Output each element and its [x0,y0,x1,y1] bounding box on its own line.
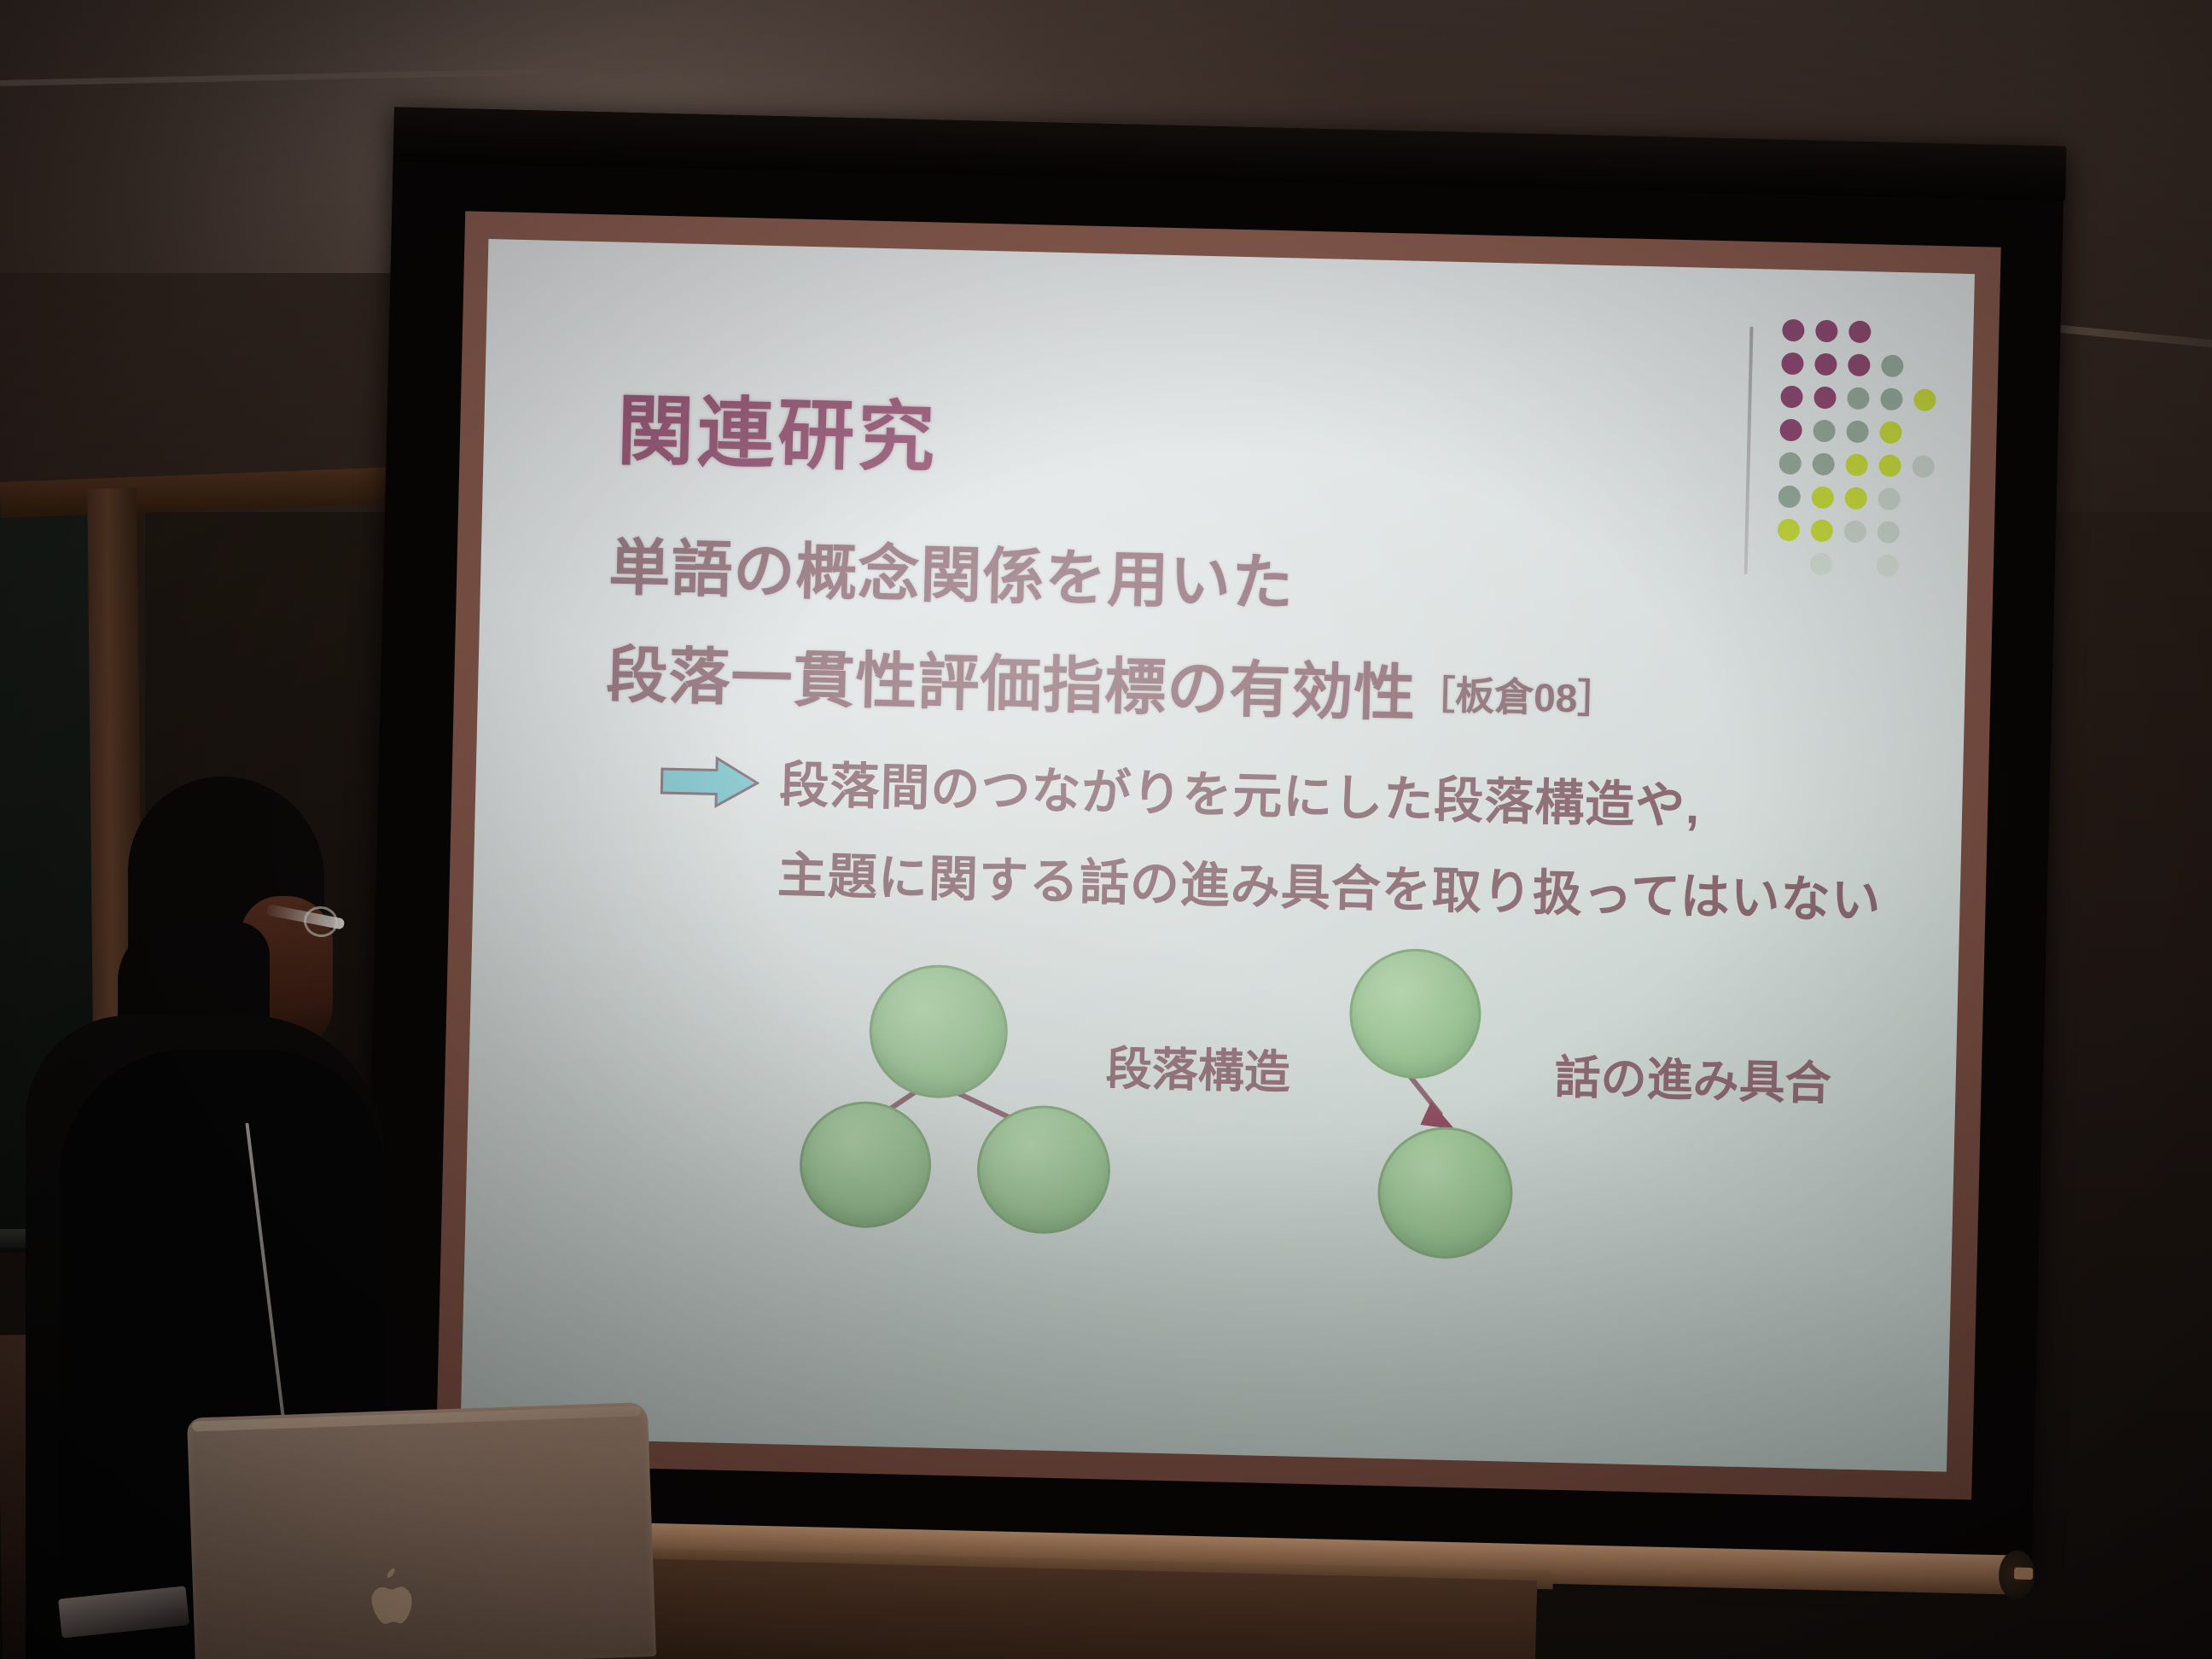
logo-dot-r7-c3 [1877,554,1900,577]
logo-dot-r5-c3 [1877,487,1901,510]
logo-dot-r1-c0 [1781,352,1804,375]
logo-dot-r6-c0 [1778,519,1801,542]
lecture-room-scene: 関連研究 単語の概念関係を用いた 段落一貫性評価指標の有効性［板倉08］ 段落間… [0,0,2212,1659]
macbook-laptop[interactable] [187,1401,670,1659]
logo-dot-r3-c0 [1779,419,1802,442]
logo-dot-r7-c1 [1810,553,1833,576]
logo-dot-r5-c4 [1911,488,1934,511]
logo-dot-r3-c4 [1912,422,1935,445]
logo-dot-grid [1777,319,1943,583]
logo-dot-r3-c2 [1846,421,1869,444]
logo-dot-r6-c3 [1877,521,1901,544]
logo-dot-r2-c2 [1847,387,1870,410]
projection-screen-rig: 関連研究 単語の概念関係を用いた 段落一貫性評価指標の有効性［板倉08］ 段落間… [352,100,2058,1590]
apple-logo-icon [359,1567,423,1642]
logo-dot-r1-c2 [1848,354,1871,377]
logo-dot-r2-c0 [1780,386,1803,409]
screen-roller-knob [2014,1568,2033,1580]
logo-dot-r4-c2 [1845,454,1868,477]
logo-dot-r4-c4 [1912,455,1935,478]
logo-dot-r0-c3 [1882,322,1905,345]
logo-dot-r0-c0 [1782,319,1805,342]
logo-dot-r3-c1 [1813,420,1836,443]
logo-dot-r4-c1 [1812,453,1835,476]
logo-dot-r0-c2 [1848,321,1871,344]
logo-dot-r6-c2 [1844,521,1867,544]
logo-dot-r1-c4 [1914,355,1937,378]
logo-dot-r7-c0 [1777,552,1800,575]
logo-dot-r7-c2 [1843,554,1866,577]
logo-dot-r4-c3 [1878,454,1901,477]
logo-dot-r5-c1 [1811,486,1834,509]
diagram-label-flow: 話の進み具合 [1554,1039,1832,1114]
logo-dot-r0-c1 [1815,320,1838,343]
logo-dot-r2-c1 [1813,387,1837,410]
logo-dot-r5-c2 [1844,487,1867,510]
logo-dot-r2-c4 [1913,388,1936,411]
diagram-label-structure: 段落構造 [1105,1030,1291,1102]
logo-dot-r6-c4 [1911,521,1934,544]
dot-grid-logo [1743,318,1920,587]
logo-dot-r2-c3 [1880,388,1903,411]
logo-dot-r6-c1 [1811,520,1834,543]
logo-dot-r7-c4 [1910,555,1933,578]
logo-dot-r0-c4 [1915,322,1938,345]
logo-dot-r1-c3 [1881,355,1904,378]
logo-dot-r4-c0 [1778,452,1802,475]
logo-dot-r3-c3 [1879,421,1902,444]
logo-dot-r5-c0 [1778,486,1801,509]
logo-dot-r1-c1 [1814,353,1837,376]
projected-slide: 関連研究 単語の概念関係を用いた 段落一貫性評価指標の有効性［板倉08］ 段落間… [460,239,1975,1472]
